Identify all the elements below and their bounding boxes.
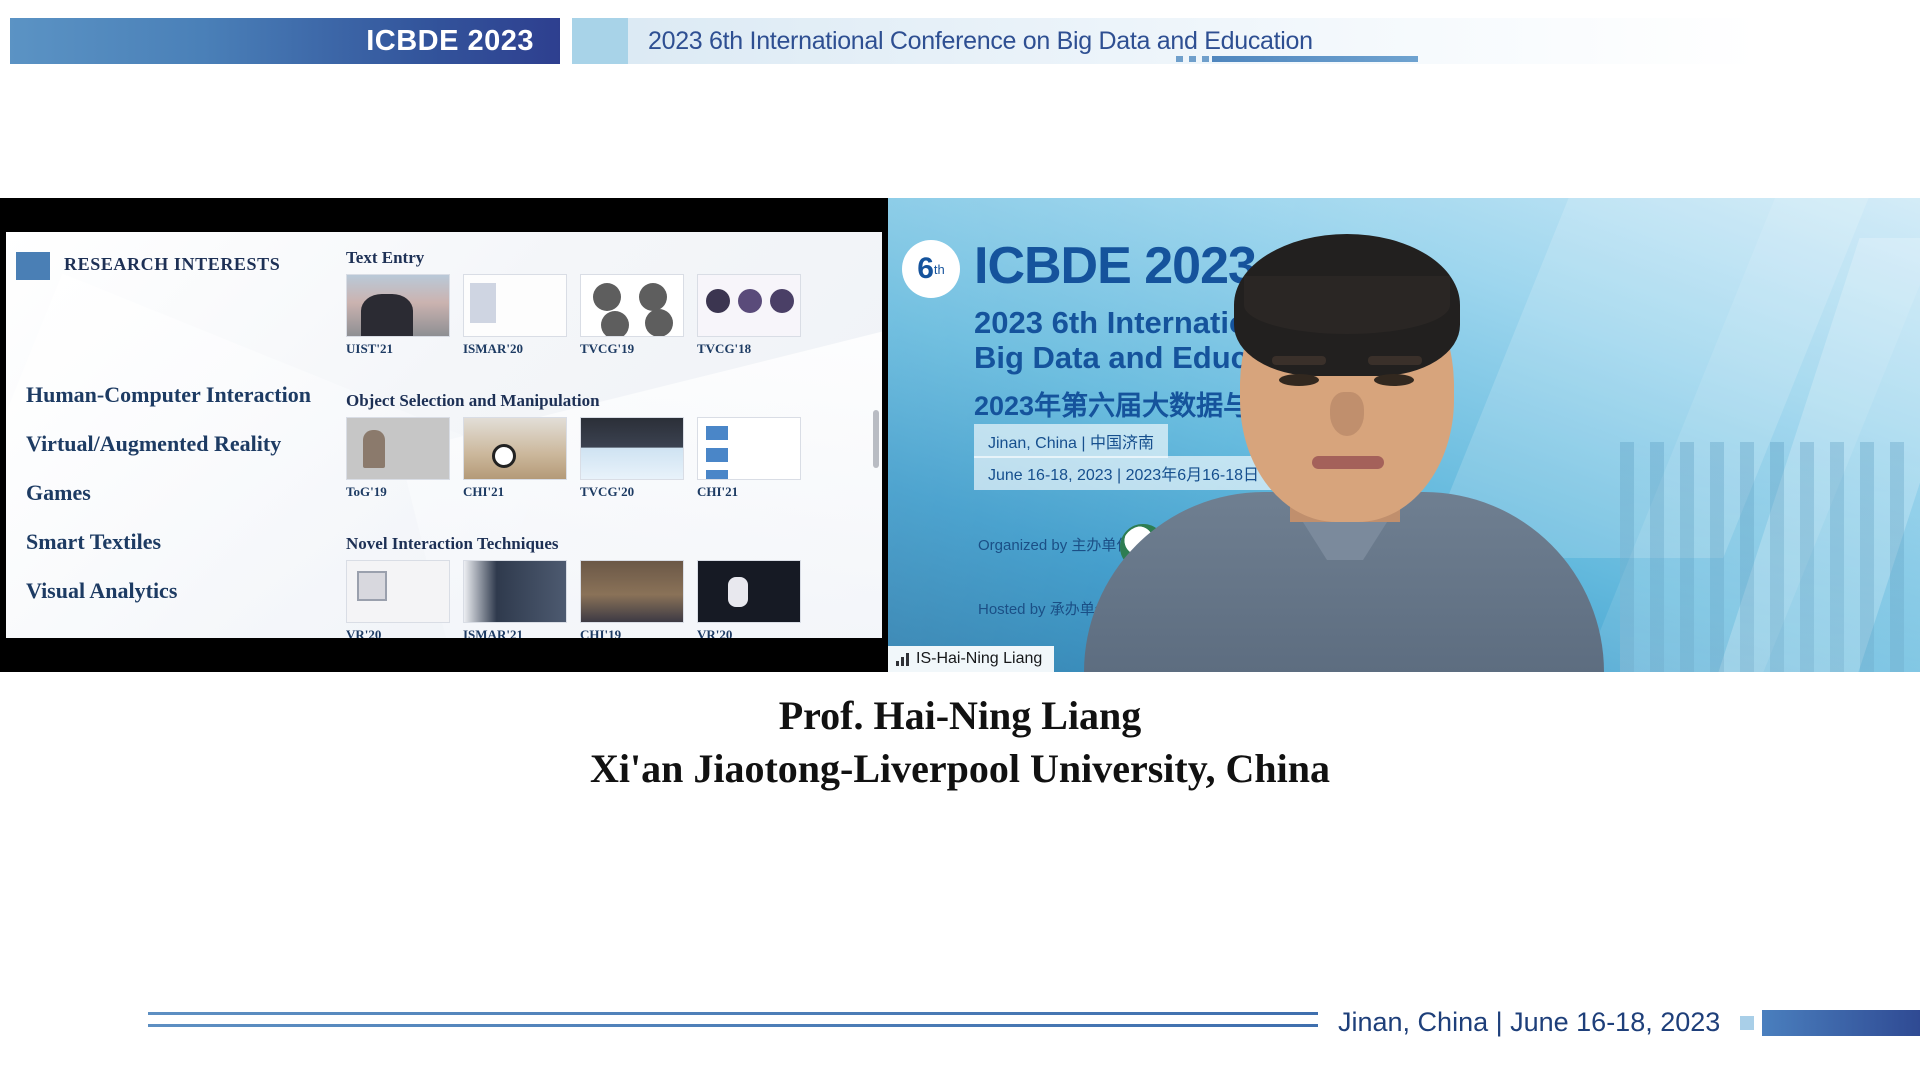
- footer-rule-top: [148, 1012, 1318, 1015]
- participant-name-label: IS-Hai-Ning Liang: [888, 646, 1054, 672]
- conference-header-banner: ICBDE 2023 2023 6th International Confer…: [0, 18, 1760, 64]
- thumbnail-caption: ISMAR'20: [463, 341, 567, 357]
- thumbnail-cell: VR'20: [697, 560, 801, 638]
- footer-square-decoration: [1740, 1016, 1754, 1030]
- list-item: Games: [26, 480, 356, 506]
- section-heading: Novel Interaction Techniques: [346, 534, 814, 554]
- research-interests-list: Human-Computer Interaction Virtual/Augme…: [26, 382, 356, 627]
- slide-section-object-selection: Object Selection and Manipulation ToG'19…: [346, 391, 814, 500]
- thumbnail-cell: ToG'19: [346, 417, 450, 500]
- section-heading: Text Entry: [346, 248, 814, 268]
- thumbnail-cell: TVCG'20: [580, 417, 684, 500]
- slide-section-title: RESEARCH INTERESTS: [64, 254, 280, 275]
- participant-video-tile[interactable]: 6th ICBDE 2023 2023 6th International Bi…: [888, 198, 1920, 672]
- thumbnail-caption: UIST'21: [346, 341, 450, 357]
- paper-thumbnail: [697, 417, 801, 480]
- slide-section-text-entry: Text Entry UIST'21 ISMAR'20 TVCG'19: [346, 248, 814, 357]
- paper-thumbnail: [346, 417, 450, 480]
- conference-logo-block: ICBDE 2023: [10, 18, 560, 64]
- signal-strength-icon: [896, 653, 909, 666]
- speaker-eyebrow-right: [1368, 356, 1422, 365]
- thumbnail-row: ToG'19 CHI'21 TVCG'20 CHI'21: [346, 417, 814, 500]
- paper-thumbnail: [580, 417, 684, 480]
- footer-gradient-block: [1762, 1010, 1920, 1036]
- section-heading: Object Selection and Manipulation: [346, 391, 814, 411]
- thumbnail-cell: CHI'21: [697, 417, 801, 500]
- speaker-nose: [1330, 392, 1364, 436]
- edition-suffix: th: [934, 262, 945, 277]
- presentation-slide: RESEARCH INTERESTS Human-Computer Intera…: [6, 232, 882, 638]
- meeting-stage: RESEARCH INTERESTS Human-Computer Intera…: [0, 198, 1920, 672]
- thumbnail-caption: CHI'19: [580, 627, 684, 638]
- conference-logo-text: ICBDE 2023: [366, 25, 560, 58]
- paper-thumbnail: [697, 560, 801, 623]
- thumbnail-caption: VR'20: [346, 627, 450, 638]
- paper-thumbnail: [346, 274, 450, 337]
- thumbnail-row: UIST'21 ISMAR'20 TVCG'19 TVCG'18: [346, 274, 814, 357]
- paper-thumbnail: [580, 274, 684, 337]
- paper-thumbnail: [580, 560, 684, 623]
- thumbnail-caption: CHI'21: [463, 484, 567, 500]
- poster-skyline-graphic: [1620, 442, 1920, 672]
- thumbnail-caption: VR'20: [697, 627, 801, 638]
- thumbnail-cell: ISMAR'20: [463, 274, 567, 357]
- paper-thumbnail: [463, 274, 567, 337]
- list-item: Virtual/Augmented Reality: [26, 431, 356, 457]
- section-marker: [16, 252, 50, 280]
- list-item: Human-Computer Interaction: [26, 382, 356, 408]
- thumbnail-caption: TVCG'19: [580, 341, 684, 357]
- list-item: Smart Textiles: [26, 529, 356, 555]
- paper-thumbnail: [463, 417, 567, 480]
- thumbnail-cell: VR'20: [346, 560, 450, 638]
- paper-thumbnail: [463, 560, 567, 623]
- thumbnail-caption: CHI'21: [697, 484, 801, 500]
- thumbnail-caption: ToG'19: [346, 484, 450, 500]
- slide-section-novel-interaction: Novel Interaction Techniques VR'20 ISMAR…: [346, 534, 814, 638]
- thumbnail-caption: TVCG'20: [580, 484, 684, 500]
- banner-accent-tab: [572, 18, 628, 64]
- edition-number: 6: [917, 254, 934, 284]
- slide-scrollbar[interactable]: [873, 410, 879, 468]
- speaker-eye-left: [1279, 374, 1319, 386]
- thumbnail-cell: ISMAR'21: [463, 560, 567, 638]
- footer-rule-bottom: [148, 1024, 1318, 1027]
- thumbnail-row: VR'20 ISMAR'21 CHI'19 VR'20: [346, 560, 814, 638]
- edition-badge: 6th: [902, 240, 960, 298]
- thumbnail-cell: TVCG'18: [697, 274, 801, 357]
- paper-thumbnail: [697, 274, 801, 337]
- thumbnail-caption: ISMAR'21: [463, 627, 567, 638]
- banner-dots-decoration: [1176, 56, 1209, 62]
- speaker-fringe: [1244, 276, 1450, 334]
- speaker-portrait: [1084, 206, 1604, 672]
- footer-location-date: Jinan, China | June 16-18, 2023: [1338, 1002, 1720, 1042]
- thumbnail-cell: CHI'19: [580, 560, 684, 638]
- speaker-eyebrow-left: [1272, 356, 1326, 365]
- footer-bar: Jinan, China | June 16-18, 2023: [0, 1002, 1920, 1042]
- list-item: Visual Analytics: [26, 578, 356, 604]
- speaker-name: Prof. Hai-Ning Liang: [0, 690, 1920, 743]
- speaker-affiliation: Xi'an Jiaotong-Liverpool University, Chi…: [0, 743, 1920, 796]
- participant-name-text: IS-Hai-Ning Liang: [916, 650, 1042, 668]
- thumbnail-cell: UIST'21: [346, 274, 450, 357]
- thumbnail-cell: TVCG'19: [580, 274, 684, 357]
- speaker-mouth: [1312, 456, 1384, 469]
- paper-thumbnail: [346, 560, 450, 623]
- thumbnail-caption: TVCG'18: [697, 341, 801, 357]
- banner-rule-decoration: [1212, 56, 1418, 62]
- screen-share-pane[interactable]: RESEARCH INTERESTS Human-Computer Intera…: [0, 198, 888, 672]
- speaker-caption-block: Prof. Hai-Ning Liang Xi'an Jiaotong-Live…: [0, 690, 1920, 796]
- thumbnail-cell: CHI'21: [463, 417, 567, 500]
- speaker-eye-right: [1374, 374, 1414, 386]
